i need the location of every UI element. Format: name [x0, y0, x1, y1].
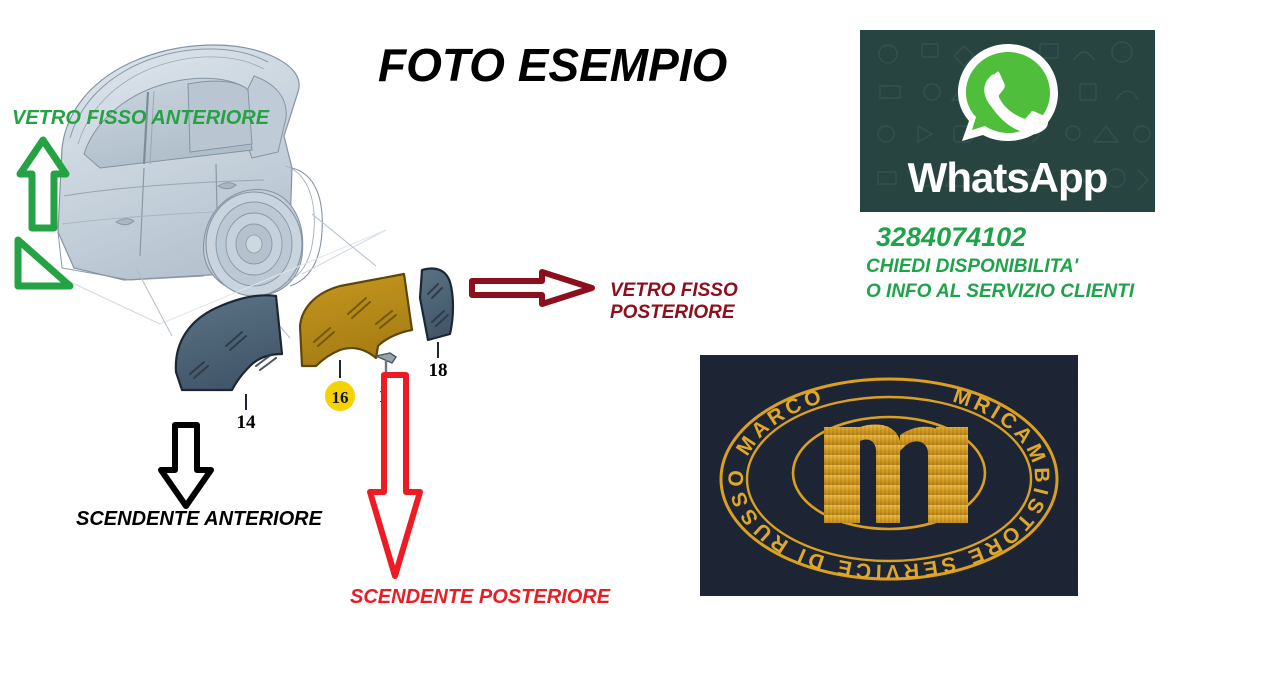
- label-vetro-fisso-posteriore: VETRO FISSO POSTERIORE: [610, 280, 738, 324]
- contact-line-1: CHIEDI DISPONIBILITA': [866, 254, 1246, 279]
- shop-logo-photo: MRICAMBISTORE SERVICE DI RUSSO MARCO: [700, 355, 1078, 596]
- arrow-black-down-icon: [155, 420, 217, 510]
- part-14-front-drop-glass: 14: [176, 295, 282, 430]
- contact-block: 3284074102 CHIEDI DISPONIBILITA' O INFO …: [866, 222, 1246, 304]
- shop-logo-emblem: MRICAMBISTORE SERVICE DI RUSSO MARCO: [700, 355, 1078, 596]
- part-number-14: 14: [237, 412, 257, 430]
- whatsapp-phone-icon: [952, 40, 1064, 152]
- contact-line-2: O INFO AL SERVIZIO CLIENTI: [866, 279, 1246, 304]
- whatsapp-banner[interactable]: WhatsApp: [860, 30, 1155, 212]
- label-vetro-fisso-posteriore-line1: VETRO FISSO: [610, 280, 738, 302]
- contact-phone-number[interactable]: 3284074102: [876, 222, 1246, 254]
- exploded-glass-parts: 14 16 17 18: [150, 250, 510, 430]
- arrow-green-up-icon: [10, 132, 82, 292]
- label-scendente-anteriore: SCENDENTE ANTERIORE: [76, 508, 322, 531]
- shop-logo-monogram: [824, 424, 968, 523]
- part-18-rear-fixed-glass: 18: [420, 269, 453, 382]
- page-title: FOTO ESEMPIO: [378, 38, 727, 92]
- label-vetro-fisso-anteriore: VETRO FISSO ANTERIORE: [12, 107, 269, 130]
- arrow-red-down-icon: [364, 370, 426, 582]
- label-scendente-posteriore: SCENDENTE POSTERIORE: [350, 586, 610, 609]
- part-number-18: 18: [429, 360, 448, 381]
- arrow-dark-red-right-icon: [468, 268, 598, 308]
- part-number-16: 16: [332, 388, 349, 407]
- whatsapp-wordmark: WhatsApp: [860, 154, 1155, 202]
- label-vetro-fisso-posteriore-line2: POSTERIORE: [610, 302, 738, 324]
